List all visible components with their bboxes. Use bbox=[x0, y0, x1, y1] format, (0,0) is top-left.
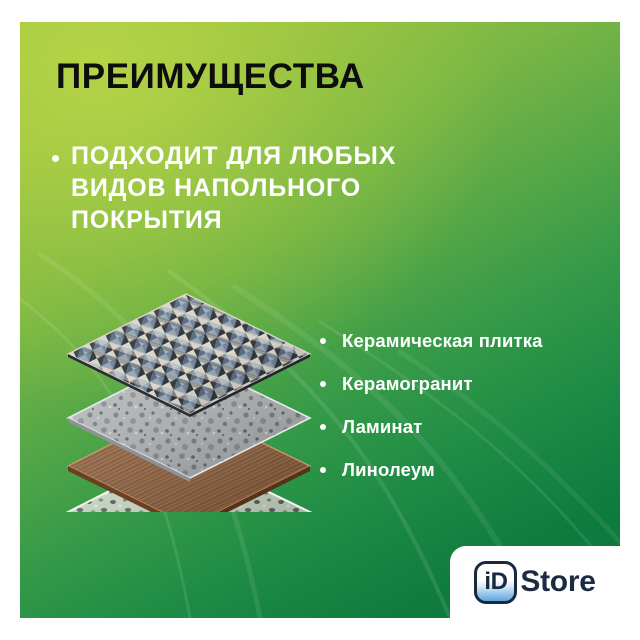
list-item-label: Керамическая плитка bbox=[342, 330, 543, 352]
bullet-dot-icon bbox=[320, 467, 326, 473]
subclaim: ПОДХОДИТ ДЛЯ ЛЮБЫХ ВИДОВ НАПОЛЬНОГО ПОКР… bbox=[52, 140, 472, 236]
id-badge-icon: iD bbox=[474, 561, 517, 604]
list-item: Керамогранит bbox=[320, 362, 620, 405]
promo-canvas: ПРЕИМУЩЕСТВА ПОДХОДИТ ДЛЯ ЛЮБЫХ ВИДОВ НА… bbox=[0, 0, 640, 640]
list-item: Ламинат bbox=[320, 405, 620, 448]
brand-logo: iD Store bbox=[450, 546, 620, 618]
subclaim-label: ПОДХОДИТ ДЛЯ ЛЮБЫХ ВИДОВ НАПОЛЬНОГО ПОКР… bbox=[71, 140, 472, 236]
bullet-dot-icon bbox=[52, 155, 59, 162]
promo-panel: ПРЕИМУЩЕСТВА ПОДХОДИТ ДЛЯ ЛЮБЫХ ВИДОВ НА… bbox=[20, 22, 620, 618]
bullet-dot-icon bbox=[320, 338, 326, 344]
brand-name-label: Store bbox=[520, 567, 595, 597]
list-item: Керамическая плитка bbox=[320, 319, 620, 362]
list-item: Линолеум bbox=[320, 448, 620, 491]
bullet-dot-icon bbox=[320, 381, 326, 387]
page-title: ПРЕИМУЩЕСТВА bbox=[56, 59, 576, 96]
id-badge-label: iD bbox=[484, 570, 507, 594]
exploded-floor-layers-illustration bbox=[60, 280, 330, 512]
list-item-label: Ламинат bbox=[342, 416, 422, 438]
list-item-label: Линолеум bbox=[342, 459, 435, 481]
bullet-dot-icon bbox=[320, 424, 326, 430]
feature-list: Керамическая плитка Керамогранит Ламинат… bbox=[320, 319, 620, 491]
list-item-label: Керамогранит bbox=[342, 373, 473, 395]
